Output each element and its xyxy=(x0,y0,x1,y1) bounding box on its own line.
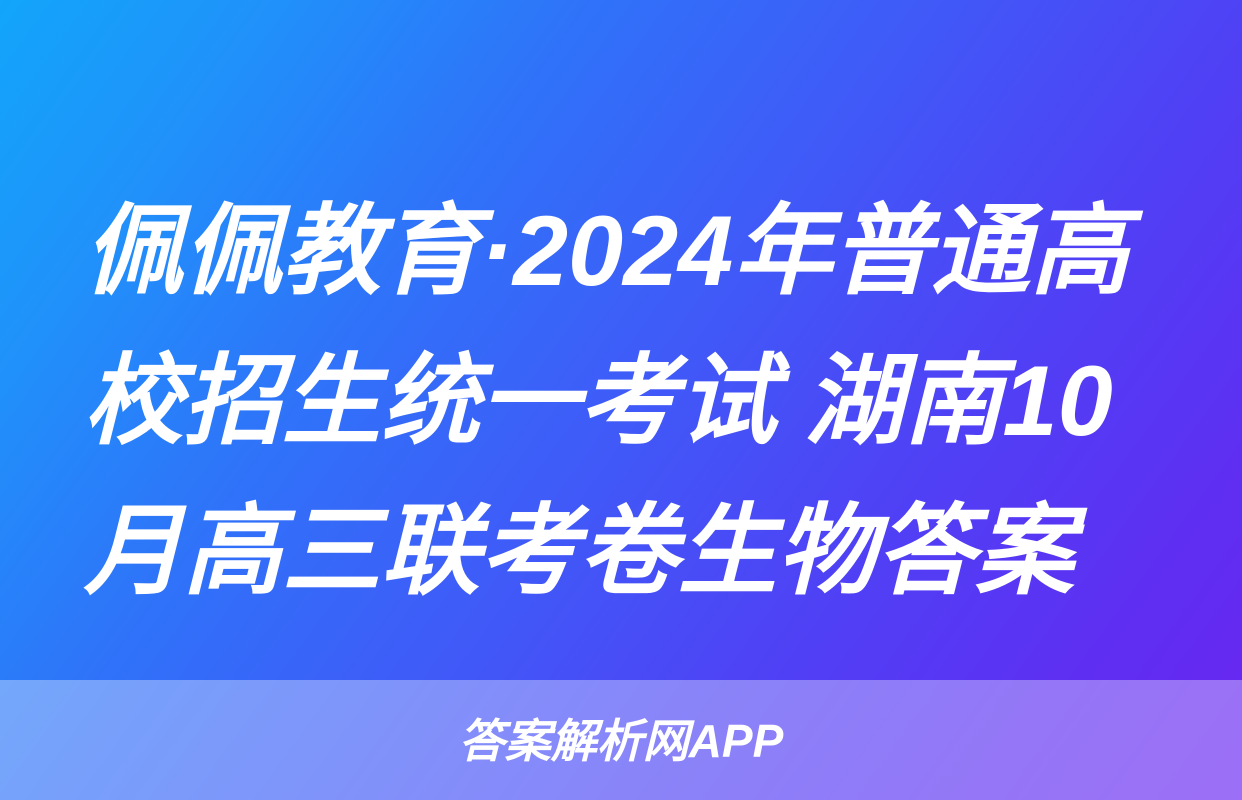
title-line-3: 月高三联考卷生物答案 xyxy=(84,476,1160,626)
page-title: 佩佩教育·2024年普通高 校招生统一考试 湖南10 月高三联考卷生物答案 xyxy=(84,176,1160,626)
title-line-1: 佩佩教育·2024年普通高 xyxy=(84,176,1160,326)
exam-cover-card: 佩佩教育·2024年普通高 校招生统一考试 湖南10 月高三联考卷生物答案 答案… xyxy=(0,0,1242,800)
app-watermark-label: 答案解析网APP xyxy=(459,718,784,764)
title-line-2: 校招生统一考试 湖南10 xyxy=(84,326,1160,476)
watermark-band: 答案解析网APP xyxy=(0,680,1242,800)
